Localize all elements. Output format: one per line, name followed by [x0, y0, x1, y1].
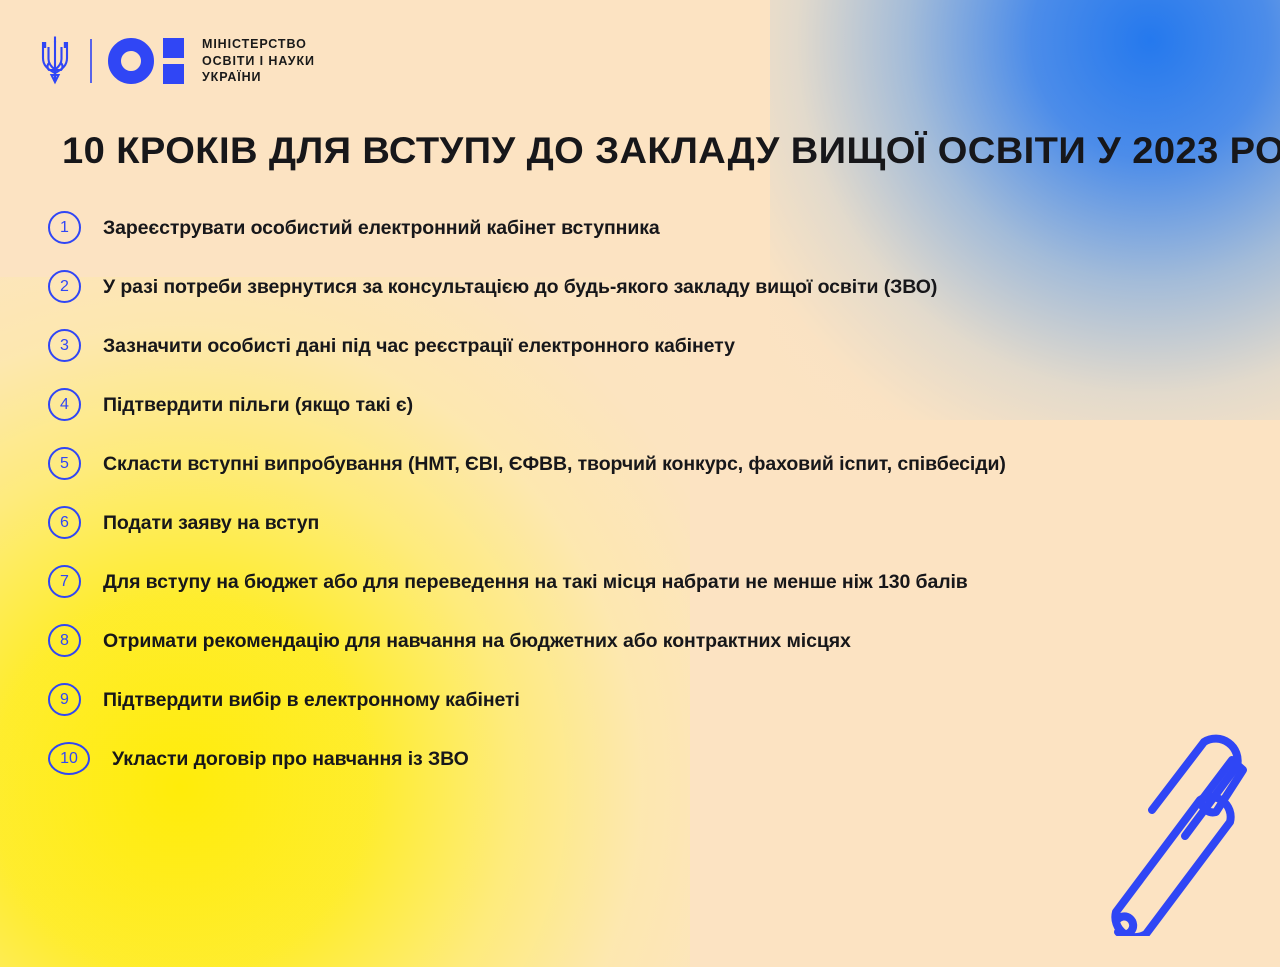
- list-item: 4 Підтвердити пільги (якщо такі є): [48, 383, 1258, 428]
- ministry-line-1: МІНІСТЕРСТВО: [202, 36, 315, 53]
- list-item: 7 Для вступу на бюджет або для переведен…: [48, 560, 1258, 605]
- step-number-badge: 10: [48, 742, 90, 775]
- step-number-badge: 5: [48, 447, 81, 480]
- ministry-line-3: УКРАЇНИ: [202, 69, 315, 86]
- ministry-logo: МІНІСТЕРСТВО ОСВІТИ І НАУКИ УКРАЇНИ: [38, 30, 315, 92]
- mon-o-mark-icon: [108, 38, 154, 84]
- steps-list: 1 Зареєструвати особистий електронний ка…: [48, 206, 1258, 796]
- mon-equals-mark-icon: [163, 38, 184, 84]
- page-title: 10 КРОКІВ ДЛЯ ВСТУПУ ДО ЗАКЛАДУ ВИЩОЇ ОС…: [62, 130, 1277, 172]
- ministry-name: МІНІСТЕРСТВО ОСВІТИ І НАУКИ УКРАЇНИ: [202, 36, 315, 86]
- step-number-badge: 4: [48, 388, 81, 421]
- logo-divider: [90, 39, 92, 83]
- step-text: Підтвердити вибір в електронному кабінет…: [103, 678, 520, 723]
- step-text: Для вступу на бюджет або для переведення…: [103, 560, 968, 605]
- step-text: У разі потреби звернутися за консультаці…: [103, 265, 937, 310]
- step-text: Зареєструвати особистий електронний кабі…: [103, 206, 660, 251]
- list-item: 3 Зазначити особисті дані під час реєстр…: [48, 324, 1258, 369]
- infographic-poster: МІНІСТЕРСТВО ОСВІТИ І НАУКИ УКРАЇНИ 10 К…: [0, 0, 1280, 967]
- list-item: 1 Зареєструвати особистий електронний ка…: [48, 206, 1258, 251]
- step-text: Зазначити особисті дані під час реєстрац…: [103, 324, 735, 369]
- step-number-badge: 6: [48, 506, 81, 539]
- step-number-badge: 2: [48, 270, 81, 303]
- step-text: Скласти вступні випробування (НМТ, ЄВІ, …: [103, 442, 1006, 487]
- step-number-badge: 8: [48, 624, 81, 657]
- step-text: Отримати рекомендацію для навчання на бю…: [103, 619, 851, 664]
- step-number-badge: 9: [48, 683, 81, 716]
- list-item: 9 Підтвердити вибір в електронному кабін…: [48, 678, 1258, 723]
- list-item: 8 Отримати рекомендацію для навчання на …: [48, 619, 1258, 664]
- step-number-badge: 7: [48, 565, 81, 598]
- step-number-badge: 1: [48, 211, 81, 244]
- ministry-line-2: ОСВІТИ І НАУКИ: [202, 53, 315, 70]
- step-number-badge: 3: [48, 329, 81, 362]
- list-item: 5 Скласти вступні випробування (НМТ, ЄВІ…: [48, 442, 1258, 487]
- list-item: 10 Укласти договір про навчання із ЗВО: [48, 737, 1258, 782]
- step-text: Укласти договір про навчання із ЗВО: [112, 737, 469, 782]
- step-text: Підтвердити пільги (якщо такі є): [103, 383, 413, 428]
- list-item: 6 Подати заяву на вступ: [48, 501, 1258, 546]
- step-text: Подати заяву на вступ: [103, 501, 319, 546]
- list-item: 2 У разі потреби звернутися за консульта…: [48, 265, 1258, 310]
- ukraine-trident-icon: [38, 35, 72, 87]
